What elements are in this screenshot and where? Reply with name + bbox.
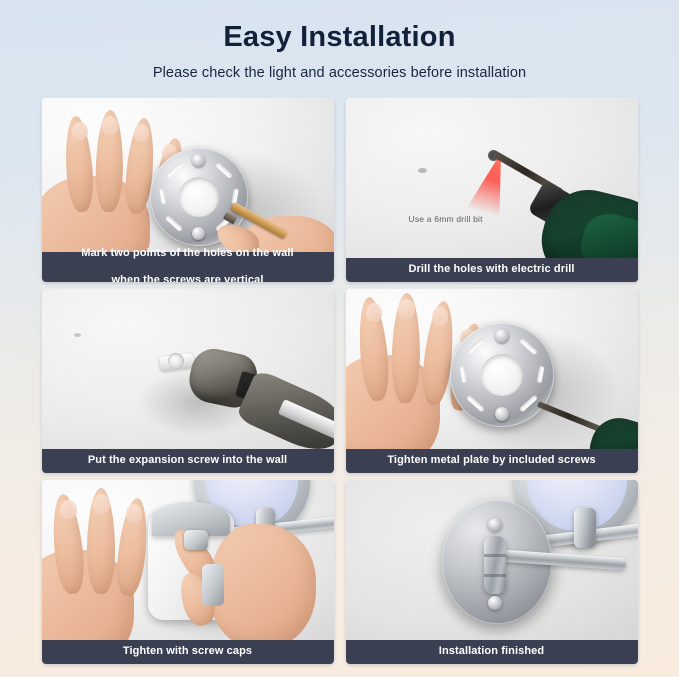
plate-slot <box>164 215 182 232</box>
step-caption-2: Drill the holes with electric drill <box>346 258 638 282</box>
plate-slot <box>159 189 167 206</box>
page-subtitle: Please check the light and accessories b… <box>0 65 679 81</box>
palm <box>210 524 316 648</box>
anchor-head <box>168 353 184 369</box>
caption-line-1: Mark two points of the holes on the wall <box>75 247 299 261</box>
step-photo-6 <box>346 480 638 664</box>
step-caption-4: Tighten metal plate by included screws <box>346 449 638 473</box>
step-panel-5: Tighten with screw caps <box>42 480 334 664</box>
fingernail <box>398 299 415 319</box>
fingernail <box>72 122 88 140</box>
plate-screw-bottom <box>495 407 509 421</box>
plate-screw-top <box>495 329 509 343</box>
fingernail <box>126 504 142 523</box>
steps-grid: Mark two points of the holes on the wall… <box>42 98 638 664</box>
step-panel-2: Use a 6mm drill bit Drill the holes with… <box>346 98 638 282</box>
fingernail <box>102 116 118 135</box>
step-panel-3: Put the expansion screw into the wall <box>42 289 334 473</box>
plate-slot <box>466 395 485 413</box>
caption-line-2: when the screws are vertical <box>75 274 299 282</box>
plate-slot <box>536 366 544 384</box>
caption-line-1: Installation finished <box>433 645 550 659</box>
plate-center-hole <box>481 354 523 396</box>
screw-cap-second <box>202 564 224 606</box>
step-caption-6: Installation finished <box>346 640 638 664</box>
step-photo-3 <box>42 289 334 473</box>
plate-slot <box>214 162 232 179</box>
fingernail <box>134 124 149 142</box>
upper-hinge <box>574 508 596 548</box>
caption-line-1: Tighten with screw caps <box>117 645 258 659</box>
step-photo-2: Use a 6mm drill bit <box>346 98 638 282</box>
caption-line-1: Tighten metal plate by included screws <box>381 454 601 468</box>
plate-center-hole <box>179 177 219 217</box>
hinge-seam <box>484 574 506 577</box>
plate-slot <box>164 162 182 179</box>
hinge-seam <box>484 554 506 557</box>
plate-screw-top <box>192 154 205 167</box>
fingernail <box>60 500 77 519</box>
bolt-bottom <box>488 596 502 610</box>
installation-guide-page: Easy Installation Please check the light… <box>0 0 679 677</box>
drill-bit-annotation: Use a 6mm drill bit <box>409 214 483 224</box>
caption-line-1: Drill the holes with electric drill <box>402 263 580 277</box>
hinge <box>484 536 506 594</box>
plate-slot <box>519 395 538 413</box>
fingernail <box>432 307 448 326</box>
step-panel-4: Tighten metal plate by included screws <box>346 289 638 473</box>
plate-slot <box>519 338 538 356</box>
fingernail <box>93 494 110 514</box>
mounting-plate <box>450 323 554 427</box>
step-panel-1: Mark two points of the holes on the wall… <box>42 98 334 282</box>
step-caption-3: Put the expansion screw into the wall <box>42 449 334 473</box>
bolt-top <box>488 518 502 532</box>
fingernail <box>366 303 382 322</box>
step-photo-4 <box>346 289 638 473</box>
plate-slot <box>466 338 485 356</box>
page-header: Easy Installation Please check the light… <box>0 0 679 81</box>
step-panel-6: Installation finished <box>346 480 638 664</box>
page-title: Easy Installation <box>0 21 679 54</box>
caption-line-1: Put the expansion screw into the wall <box>82 454 293 468</box>
step-caption-1: Mark two points of the holes on the wall… <box>42 252 334 282</box>
plate-screw-bottom <box>192 227 205 240</box>
step-photo-5 <box>42 480 334 664</box>
step-caption-5: Tighten with screw caps <box>42 640 334 664</box>
screw-cap <box>184 530 208 550</box>
plate-slot <box>459 366 467 384</box>
